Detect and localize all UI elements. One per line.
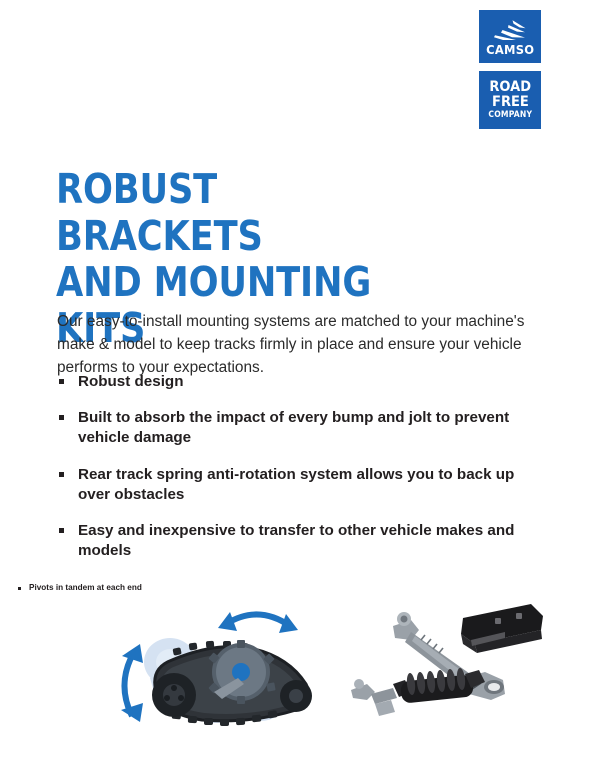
list-item: Easy and inexpensive to transfer to othe…: [57, 521, 527, 561]
footnote-label: Pivots in tandem at each end: [29, 583, 142, 592]
road-free-line-2: FREE: [492, 95, 529, 110]
list-item: Rear track spring anti-rotation system a…: [57, 465, 527, 505]
road-free-company-tile: ROAD FREE COMPANY: [479, 71, 541, 129]
square-bullet-icon: [59, 472, 64, 477]
track-system-pivot-diagram: [110, 600, 350, 740]
list-item-label: Easy and inexpensive to transfer to othe…: [78, 522, 514, 559]
brand-logo-lockup: CAMSO ROAD FREE COMPANY: [479, 10, 541, 129]
list-item-label: Built to absorb the impact of every bump…: [78, 409, 509, 446]
bracket-kit-graphic: [345, 596, 550, 726]
square-bullet-icon: [59, 379, 64, 384]
pivot-arrow-left: [121, 644, 143, 722]
list-item-label: Robust design: [78, 373, 183, 390]
square-bullet-icon: [59, 528, 64, 533]
intro-paragraph: Our easy-to-install mounting systems are…: [57, 311, 527, 379]
bracket-and-spring-kit-photo: [345, 596, 550, 726]
square-bullet-icon: [59, 415, 64, 420]
road-free-line-1: ROAD: [489, 80, 531, 95]
footnote: Pivots in tandem at each end: [18, 583, 142, 592]
idler-wheel: [152, 673, 196, 717]
list-item: Robust design: [57, 372, 527, 392]
rear-wheel: [280, 680, 312, 712]
road-free-line-3: COMPANY: [488, 111, 532, 120]
camso-wordmark: CAMSO: [486, 44, 534, 57]
feature-list: Robust design Built to absorb the impact…: [57, 372, 527, 578]
mounting-rail: [461, 604, 543, 653]
page-title-line-1: ROBUST BRACKETS: [56, 166, 426, 259]
list-item-label: Rear track spring anti-rotation system a…: [78, 466, 514, 503]
list-item: Built to absorb the impact of every bump…: [57, 408, 527, 448]
camso-logo-tile: CAMSO: [479, 10, 541, 63]
camso-mountain-mark-icon: [492, 19, 528, 41]
track-system-graphic: [110, 600, 350, 740]
pivot-arrow-top: [218, 612, 298, 633]
square-bullet-icon: [18, 587, 21, 590]
